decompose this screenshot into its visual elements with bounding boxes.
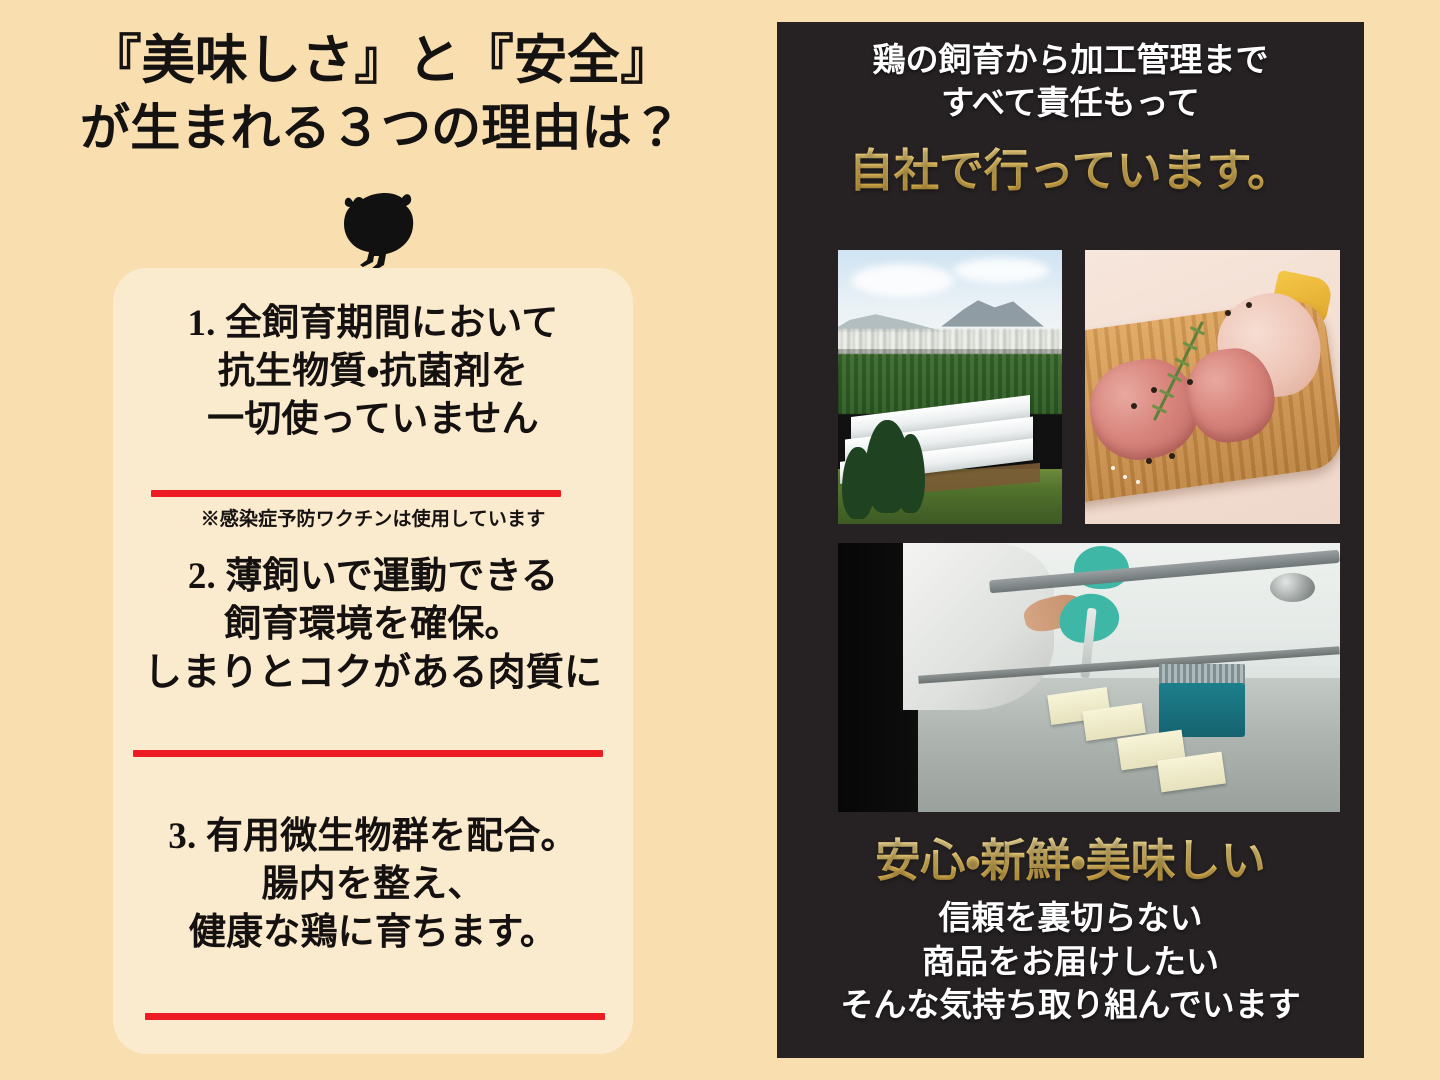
panel-footer: 安心・新鮮・美味しい 信頼を裏切らない 商品をお届けしたい そんな気持ち取り組ん…	[777, 834, 1364, 1029]
right-dark-panel: 鶏の飼育から加工管理まで すべて責任もって 自社で行っています。	[777, 22, 1364, 1058]
reason-item-2: 2. 薄飼いで運動できる 飼育環境を確保。 しまりとコクがある肉質に	[113, 553, 633, 699]
panel-heading-line-2: すべて責任もって	[777, 83, 1364, 126]
poster-stage: 『美味しさ』と『安全』 が生まれる３つの理由は？ 1. 全飼育期間において 抗生…	[0, 0, 1440, 1080]
cabinet-knob	[1270, 573, 1315, 603]
chicken-meat-photo	[1085, 250, 1340, 524]
reason-1-line-3: 一切使っていません	[113, 396, 633, 444]
left-column: 『美味しさ』と『安全』 が生まれる３つの理由は？ 1. 全飼育期間において 抗生…	[0, 0, 770, 1080]
footer-line-2: 商品をお届けしたい	[777, 942, 1364, 986]
chicken-silhouette-icon	[0, 176, 762, 272]
farm-aerial-photo	[838, 250, 1062, 524]
reason-3-line-3: 健康な鶏に育ちます。	[113, 909, 633, 957]
pipette-tip-box	[1159, 683, 1244, 737]
title-line-2: が生まれる３つの理由は？	[0, 99, 762, 158]
panel-heading-line-1: 鶏の飼育から加工管理まで	[777, 40, 1364, 83]
cloud	[954, 258, 1048, 283]
lab-inspection-photo	[838, 543, 1340, 812]
panel-heading-highlight: 自社で行っています。	[777, 134, 1364, 199]
reason-2-line-2: 飼育環境を確保。	[113, 601, 633, 649]
reason-1-line-1: 1. 全飼育期間において	[113, 300, 633, 348]
panel-heading: 鶏の飼育から加工管理まで すべて責任もって 自社で行っています。	[777, 40, 1364, 199]
reason-1-underline	[151, 490, 561, 497]
tree	[842, 447, 873, 518]
reason-3-underline	[145, 1013, 605, 1020]
footer-line-1: 信頼を裏切らない	[777, 898, 1364, 942]
reason-3-line-2: 腸内を整え、	[113, 861, 633, 909]
footer-line-3: そんな気持ち取り組んでいます	[777, 985, 1364, 1029]
cloud	[851, 264, 954, 297]
reason-2-line-1: 2. 薄飼いで運動できる	[113, 553, 633, 601]
reason-item-1: 1. 全飼育期間において 抗生物質・抗菌剤を 一切使っていません ※感染症予防ワ…	[113, 300, 633, 444]
reason-2-line-3: しまりとコクがある肉質に	[113, 649, 633, 698]
peppercorn	[1246, 302, 1252, 308]
reason-1-note: ※感染症予防ワクチンは使用しています	[113, 504, 633, 531]
reason-1-line-2: 抗生物質・抗菌剤を	[113, 348, 633, 396]
reason-3-line-1: 3. 有用微生物群を配合。	[113, 813, 633, 861]
reason-2-underline	[133, 750, 603, 757]
peppercorn	[1187, 379, 1193, 385]
peppercorn	[1169, 453, 1175, 459]
footer-highlight: 安心・新鮮・美味しい	[777, 834, 1364, 888]
reason-item-3: 3. 有用微生物群を配合。 腸内を整え、 健康な鶏に育ちます。	[113, 813, 633, 957]
title-line-1: 『美味しさ』と『安全』	[0, 30, 762, 93]
page-title: 『美味しさ』と『安全』 が生まれる３つの理由は？	[0, 30, 762, 158]
reasons-card: 1. 全飼育期間において 抗生物質・抗菌剤を 一切使っていません ※感染症予防ワ…	[113, 268, 633, 1054]
salt-grain	[1123, 475, 1127, 479]
footer-lines: 信頼を裏切らない 商品をお届けしたい そんな気持ち取り組んでいます	[777, 898, 1364, 1029]
